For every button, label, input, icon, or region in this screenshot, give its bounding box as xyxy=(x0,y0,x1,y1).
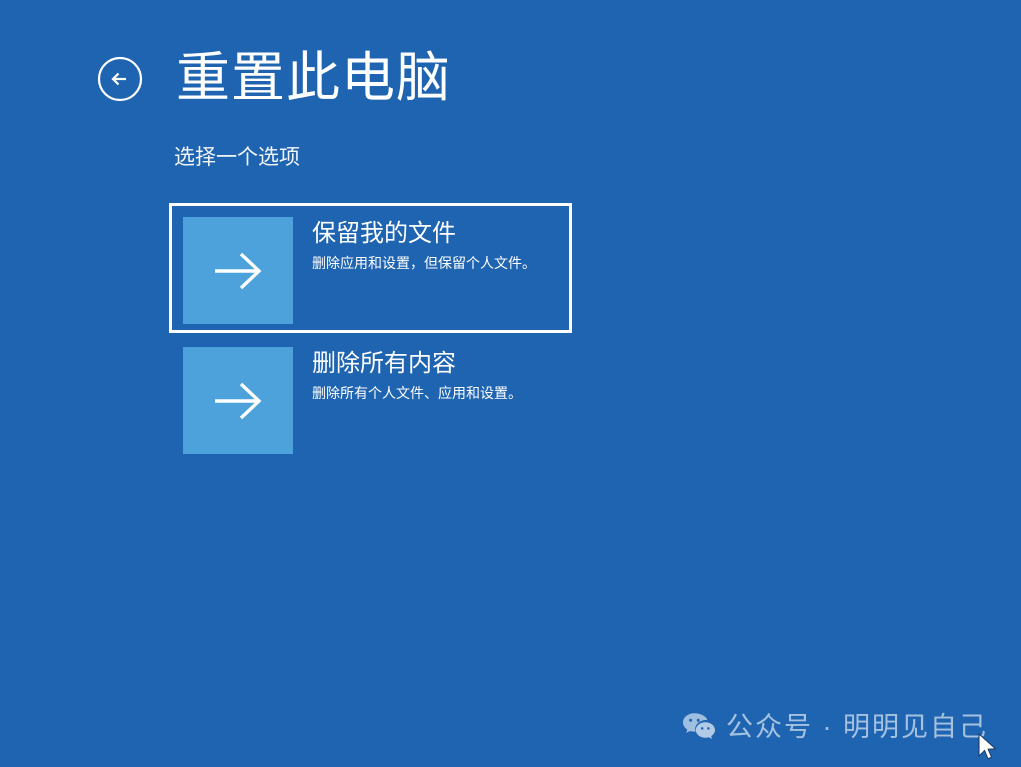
options-list: 保留我的文件 删除应用和设置，但保留个人文件。 删除所有内容 删除所有个人文件、… xyxy=(169,203,572,463)
option-icon-tile xyxy=(183,217,293,324)
wechat-icon xyxy=(682,712,716,742)
option-title: 删除所有内容 xyxy=(312,348,522,380)
option-icon-tile xyxy=(183,347,293,454)
option-keep-my-files[interactable]: 保留我的文件 删除应用和设置，但保留个人文件。 xyxy=(169,203,572,333)
back-button[interactable] xyxy=(96,55,144,103)
subtitle: 选择一个选项 xyxy=(174,144,300,172)
option-text: 保留我的文件 删除应用和设置，但保留个人文件。 xyxy=(312,217,536,273)
reset-this-pc-screen: 重置此电脑 选择一个选项 保留我的文件 删除应用和设置，但保留个人文件。 xyxy=(0,0,1021,767)
back-arrow-icon xyxy=(96,55,144,103)
arrow-right-icon xyxy=(207,378,269,424)
header: 重置此电脑 xyxy=(96,46,451,110)
watermark-text: 公众号 · 明明见自己 xyxy=(726,711,988,743)
option-description: 删除应用和设置，但保留个人文件。 xyxy=(312,253,536,273)
option-text: 删除所有内容 删除所有个人文件、应用和设置。 xyxy=(312,347,522,403)
watermark: 公众号 · 明明见自己 xyxy=(682,711,988,743)
option-description: 删除所有个人文件、应用和设置。 xyxy=(312,383,522,403)
option-title: 保留我的文件 xyxy=(312,218,536,250)
page-title: 重置此电脑 xyxy=(176,46,451,110)
option-remove-everything[interactable]: 删除所有内容 删除所有个人文件、应用和设置。 xyxy=(169,333,572,463)
mouse-pointer-icon xyxy=(977,733,999,763)
arrow-right-icon xyxy=(207,248,269,294)
